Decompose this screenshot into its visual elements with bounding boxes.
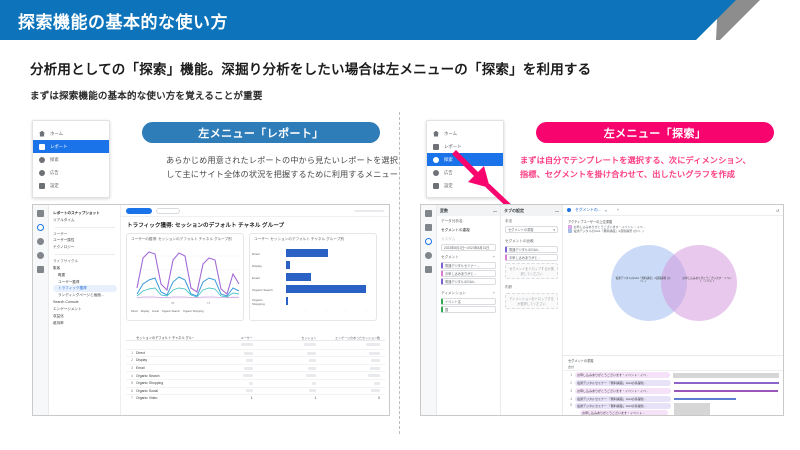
line-chart-title: ユーザーの獲得: セッションのデフォルト チャネル グループ別 [127,234,243,242]
table-header-row: セッションのデフォルト チャネル グループ ユーザー セッション エンゲージのあ… [126,325,385,341]
bar-chart-title: ユーザー: セッションのデフォルト チャネル グループ別 [250,234,376,242]
report-heading: トラフィック獲得: セッションのデフォルト チャネル グループ [121,217,389,230]
legend-item: Organic Shopping [183,310,204,313]
overlap-row[interactable]: 3 お申し込みありがとうございます・イベント・イベ... [563,387,783,395]
nav-sub-item[interactable]: ランディングページと画面... [53,292,117,299]
overlap-bar [674,403,710,416]
explore-icon[interactable] [425,238,432,245]
overlap-tag: 電通デジタルセミナー 「無料講座」GA4の基礎化... [575,403,671,409]
segment-dropzone[interactable]: セグメントをドロップするか選択してください [505,263,558,279]
nav-item-acquisition[interactable]: 集客 [53,265,117,272]
explore-screenshot[interactable]: 変数 — データ分析名: セグメントの重複 カスタム 2023年8月1日～202… [420,204,784,416]
reports-icon[interactable] [37,224,44,231]
segment-comparison-label: セグメントの比較 [501,236,562,245]
venn-left-label: 電通デジタルのGA4「無料講座」2週間講習 (のべ...) [615,277,671,284]
sidebar-item-ads[interactable]: 広告 [33,166,109,179]
overlap-tag: お申し込みありがとうございます・イベント・イベ... [575,372,670,378]
nav-sub-item[interactable]: 概要 [53,272,117,279]
svg-text:Shopping: Shopping [252,302,265,306]
sub-heading: まずは探索機能の基本的な使い方を覚えることが重要 [30,88,263,102]
explore-icon [433,157,439,163]
bar-chart-card: ユーザー: セッションのデフォルト チャネル グループ別 Direct Disp… [249,233,377,321]
overlap-tag: お申し込みありがとうございます・イベント... [580,410,668,416]
chevron-down-icon[interactable]: ▾ [605,208,607,213]
technique-label: 手法 [501,216,562,225]
nav-item[interactable]: 収益化 [53,313,117,320]
sidebar-item-label: 広告 [50,170,59,176]
overlap-tag: お申し込みありがとうございます・イベント・イベ... [575,388,671,394]
slide-root: 探索機能の基本的な使い方 分析用としての「探索」機能。深掘り分析をしたい場合は左… [0,0,800,450]
tab-color-dot-icon [567,208,571,212]
table-row[interactable]: 7 Organic Video 1 1 0 [126,394,385,402]
ads-icon[interactable] [37,252,44,259]
svg-text:Email: Email [252,276,260,280]
table-col-header[interactable]: セッション [258,336,322,340]
sidebar-item-label: ホーム [50,131,63,137]
collapse-icon[interactable]: — [555,208,559,213]
collapse-icon[interactable]: — [493,208,497,213]
right-description-line1: まずは自分でテンプレートを選択する、次にディメンション、 [520,154,796,168]
explore-icon[interactable] [37,238,44,245]
variables-pane: 変数 — データ分析名: セグメントの重複 カスタム 2023年8月1日～202… [437,205,501,415]
nav-realtime[interactable]: リアルタイム [53,217,117,224]
add-segment-icon[interactable]: + [493,255,495,260]
dimension-item[interactable]: 国 [441,306,496,313]
ga-rail [421,205,437,415]
nav-divider [55,254,115,255]
table-col-header[interactable]: エンゲージのあったセッション数 [321,337,385,340]
line-chart-plot: 08 15 [127,244,243,306]
analysis-name-label: データ分析名: [437,216,500,225]
settings-icon[interactable] [425,266,432,273]
overlap-table: セグメントの重複 合計 1 お申し込みありがとうございます・イベント・イベ...… [563,355,783,415]
nav-section-lifecycle[interactable]: ライフサイクル [53,258,117,265]
right-description-line2: 指標、セグメントを掛け合わせて、出したいグラフを作成 [520,168,796,182]
nav-item[interactable]: ユーザー属性 [53,237,117,244]
table-col-header[interactable]: ユーザー [194,336,258,340]
svg-text:Direct: Direct [252,252,260,256]
lead-heading: 分析用としての「探索」機能。深掘り分析をしたい場合は左メニューの「探索」を利用す… [30,58,591,78]
svg-text:08: 08 [171,301,175,305]
overlap-bar [674,382,779,383]
right-column: ホーム レポート 探索 広告 設定 左メニュー「探索」 [408,112,792,434]
left-description-line1: あらかじめ用意されたレポートの中から見たいレポートを選択 [122,154,398,168]
comparison-segment[interactable]: 電通デジタルのGA4... [505,246,558,253]
overlap-bar [674,390,778,391]
add-dimension-icon[interactable]: + [493,291,495,296]
legend-item: Direct [131,310,138,313]
bar-chart-plot: Direct Display Email Organic Search Orga… [250,244,376,318]
nav-sub-item-selected[interactable]: トラフィック獲得 [53,285,117,292]
left-column: ホーム レポート 探索 広告 設定 左メニュー「レポート」 あらかじめ用意された… [14,112,398,434]
variables-pane-title: 変数 [440,208,448,214]
overlap-bar [673,373,779,378]
ga-rail [33,205,49,415]
dimension-item[interactable]: イベント名 [441,298,496,305]
venn-diagram: 電通デジタルのGA4「無料講座」2週間講習 (のべ...) お申し込みありがとう… [563,233,783,323]
nav-item[interactable]: 維持率 [53,320,117,327]
svg-text:15: 15 [207,301,211,305]
variables-pane-header: 変数 — [437,205,500,216]
technique-select[interactable]: セグメントの重複 ▾ [505,226,558,233]
sidebar-item-explore[interactable]: 探索 [33,153,109,166]
breakdown-label: 内訳 [501,282,562,291]
nav-section-users[interactable]: ユーザー [53,231,117,238]
overlap-row[interactable]: 5 電通デジタルセミナー 「無料講座」GA4の基礎化... お申し込みありがとう… [563,403,783,416]
canvas-legend: お申し込みありがとうございます・イベント・イベ... 電通デジタルのGA4「無料… [563,225,783,233]
comparison-segment[interactable]: お申し込みありがと... [505,254,558,261]
nav-item[interactable]: Search Console [53,299,117,306]
table-row[interactable]: 5 Organic Shopping [126,379,385,387]
overlap-row[interactable]: 1 お申し込みありがとうございます・イベント・イベ... [563,371,783,379]
table-row[interactable]: 1 Direct [126,349,385,357]
svg-text:Display: Display [252,264,262,268]
venn-right-label: お申し込みありがとうございます・イベント・イベント [681,277,733,284]
home-icon [39,131,45,137]
table-row[interactable]: 2 Display [126,356,385,364]
overlap-bar [674,398,736,399]
segments-section-header: セグメント + [437,252,500,261]
audience-chip[interactable] [126,208,152,214]
date-range-label: カスタム [437,234,500,243]
overlap-tag: 電通デジタルセミナー 「無料講座」GA4の基礎化... [575,396,671,402]
svg-text:Organic Search: Organic Search [252,288,273,292]
right-pill-label: 左メニュー「探索」 [536,122,774,143]
add-tab-button[interactable]: + [617,208,619,212]
overlap-tag-group: 電通デジタルセミナー 「無料講座」GA4の基礎化... お申し込みありがとうござ… [575,403,671,416]
dimensions-section-header: ディメンション + [437,288,500,297]
sidebar-item-label: レポート [50,144,68,150]
sidebar-item-home[interactable]: ホーム [427,127,503,140]
table-col-header[interactable]: セッションのデフォルト チャネル グループ [136,335,194,340]
report-icon [433,144,439,150]
sidebar-item-home[interactable]: ホーム [33,127,109,140]
nav-title[interactable]: レポートのスナップショット [53,210,117,217]
chevron-down-icon: ▾ [553,228,555,232]
reports-nav: レポートのスナップショット リアルタイム ユーザー ユーザー属性 テクノロジー … [49,205,121,415]
legend-swatch-icon [568,225,572,229]
segment-item[interactable]: 電通デジタルのGA4... [441,278,496,285]
settings-icon [39,183,45,189]
segment-item[interactable]: お申し込みありがと... [441,270,496,277]
home-icon[interactable] [37,210,44,217]
overlap-table-title: セグメントの重複 [563,356,783,365]
segments-label: セグメント [441,255,459,260]
segment-item[interactable]: 電通デジタルセミナー... [441,262,496,269]
line-chart-legend: Direct Display Email Organic Search Orga… [131,310,204,313]
table-row[interactable]: 4 Organic Search [126,371,385,379]
date-range-chip[interactable] [156,208,180,214]
report-icon [39,144,45,150]
analysis-name-value[interactable]: セグメントの重複 [437,225,500,234]
header-banner: 探索機能の基本的な使い方 [0,0,800,40]
table-row[interactable]: 6 Organic Social [126,387,385,395]
settings-pane-header: タブの設定 — [501,205,562,216]
sidebar-item-reports[interactable]: レポート [33,140,110,153]
home-icon[interactable] [425,210,432,217]
report-table: セッションのデフォルト チャネル グループ ユーザー セッション エンゲージのあ… [126,325,385,413]
dimensions-label: ディメンション [441,291,466,296]
breakdown-dropzone[interactable]: ディメンションをドロップするか選択してください [505,293,558,309]
reports-icon[interactable] [425,224,432,231]
overlap-row[interactable]: 2 電通デジタルセミナー 「無料講座」GA4の基礎化... [563,379,783,387]
overlap-row[interactable]: 4 電通デジタルセミナー 「無料講座」GA4の基礎化... [563,395,783,403]
undo-icon[interactable]: ↺ [776,208,779,213]
reports-topbar [121,205,389,217]
overlap-tag: 電通デジタルセミナー 「無料講座」GA4の基礎化... [575,380,671,386]
reports-screenshot[interactable]: レポートのスナップショット リアルタイム ユーザー ユーザー属性 テクノロジー … [32,204,390,416]
settings-icon[interactable] [37,266,44,273]
sidebar-item-label: 設定 [50,183,59,189]
share-meta [354,210,384,212]
canvas-active-users-label: アクティブユーザーの上位重複 [563,216,783,225]
left-description-line2: して主にサイト全体の状況を把握するために利用するメニュー [122,168,398,182]
settings-pane: タブの設定 — 手法 セグメントの重複 ▾ セグメントの比較 電通デジタルのGA… [501,205,563,415]
ads-icon [433,170,439,176]
home-icon [433,131,439,137]
line-chart-card: ユーザーの獲得: セッションのデフォルト チャネル グループ別 08 15 [126,233,244,321]
legend-item: Display [141,310,150,313]
settings-icon [433,183,439,189]
nav-sub-item[interactable]: ユーザー獲得 [53,279,117,286]
ads-icon[interactable] [425,252,432,259]
date-range-selector[interactable]: 2023年8月1日～2023年8月31日 [441,244,496,251]
tab-segment-overlap[interactable]: セグメントの... [575,208,601,213]
sidebar-item-label: 探索 [50,157,59,163]
left-pill-label: 左メニュー「レポート」 [142,122,380,143]
table-total-row [126,341,385,349]
sidebar-item-label: ホーム [444,131,457,137]
nav-divider [55,227,115,228]
left-description: あらかじめ用意されたレポートの中から見たいレポートを選択 して主にサイト全体の状… [122,154,398,183]
column-divider [399,112,400,434]
nav-item[interactable]: テクノロジー [53,244,117,251]
reports-body: トラフィック獲得: セッションのデフォルト チャネル グループ ユーザーの獲得:… [121,205,389,415]
legend-item: Email [152,310,159,313]
page-title: 探索機能の基本的な使い方 [18,0,228,40]
table-row[interactable]: 3 Email [126,364,385,372]
ads-icon [39,170,45,176]
technique-value: セグメントの重複 [508,227,534,232]
right-description: まずは自分でテンプレートを選択する、次にディメンション、 指標、セグメントを掛け… [520,154,796,183]
settings-pane-title: タブの設定 [504,208,524,214]
nav-item[interactable]: エンゲージメント [53,306,117,313]
legend-item: Organic Search [162,310,180,313]
left-menu-card: ホーム レポート 探索 広告 設定 [32,120,110,198]
explore-icon [39,157,45,163]
explore-canvas: セグメントの... ▾ + ↺ アクティブユーザーの上位重複 お申し込みありがと… [563,205,783,415]
sidebar-item-settings[interactable]: 設定 [33,179,109,192]
canvas-tabbar: セグメントの... ▾ + ↺ [563,205,783,216]
